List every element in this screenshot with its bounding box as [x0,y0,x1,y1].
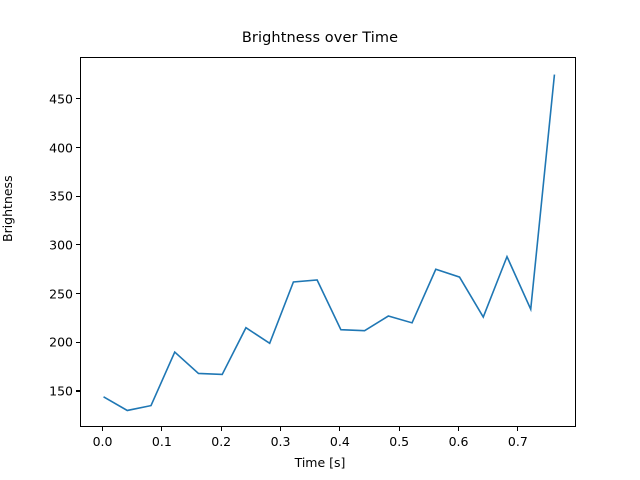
x-tick-label: 0.1 [152,434,172,449]
chart-title: Brightness over Time [0,30,640,46]
y-tick-label: 250 [20,286,73,301]
y-tick-label: 200 [20,335,73,350]
y-tick-mark [76,196,80,197]
y-tick-mark [76,342,80,343]
y-tick-label: 150 [20,383,73,398]
x-tick-label: 0.7 [508,434,528,449]
y-tick-label: 400 [20,140,73,155]
y-tick-mark [76,293,80,294]
y-tick-label: 300 [20,237,73,252]
y-tick-mark [76,390,80,391]
y-tick-mark [76,244,80,245]
matplotlib-figure: Brightness over Time Brightness Time [s]… [0,0,640,480]
x-tick-mark [102,427,103,431]
x-axis-label: Time [s] [0,455,640,470]
x-tick-mark [161,427,162,431]
x-tick-label: 0.2 [211,434,231,449]
x-tick-label: 0.3 [271,434,291,449]
x-tick-label: 0.5 [389,434,409,449]
y-tick-label: 450 [20,91,73,106]
x-tick-mark [399,427,400,431]
y-tick-mark [76,147,80,148]
x-tick-label: 0.0 [93,434,113,449]
y-axis-label: Brightness [0,175,15,242]
plot-area [80,57,576,427]
y-tick-label: 350 [20,189,73,204]
x-tick-label: 0.4 [330,434,350,449]
x-tick-label: 0.6 [449,434,469,449]
x-tick-mark [458,427,459,431]
x-tick-mark [339,427,340,431]
x-tick-mark [517,427,518,431]
data-line-svg [81,58,577,428]
x-tick-mark [280,427,281,431]
brightness-series-line [104,75,555,411]
x-tick-mark [221,427,222,431]
y-tick-mark [76,98,80,99]
